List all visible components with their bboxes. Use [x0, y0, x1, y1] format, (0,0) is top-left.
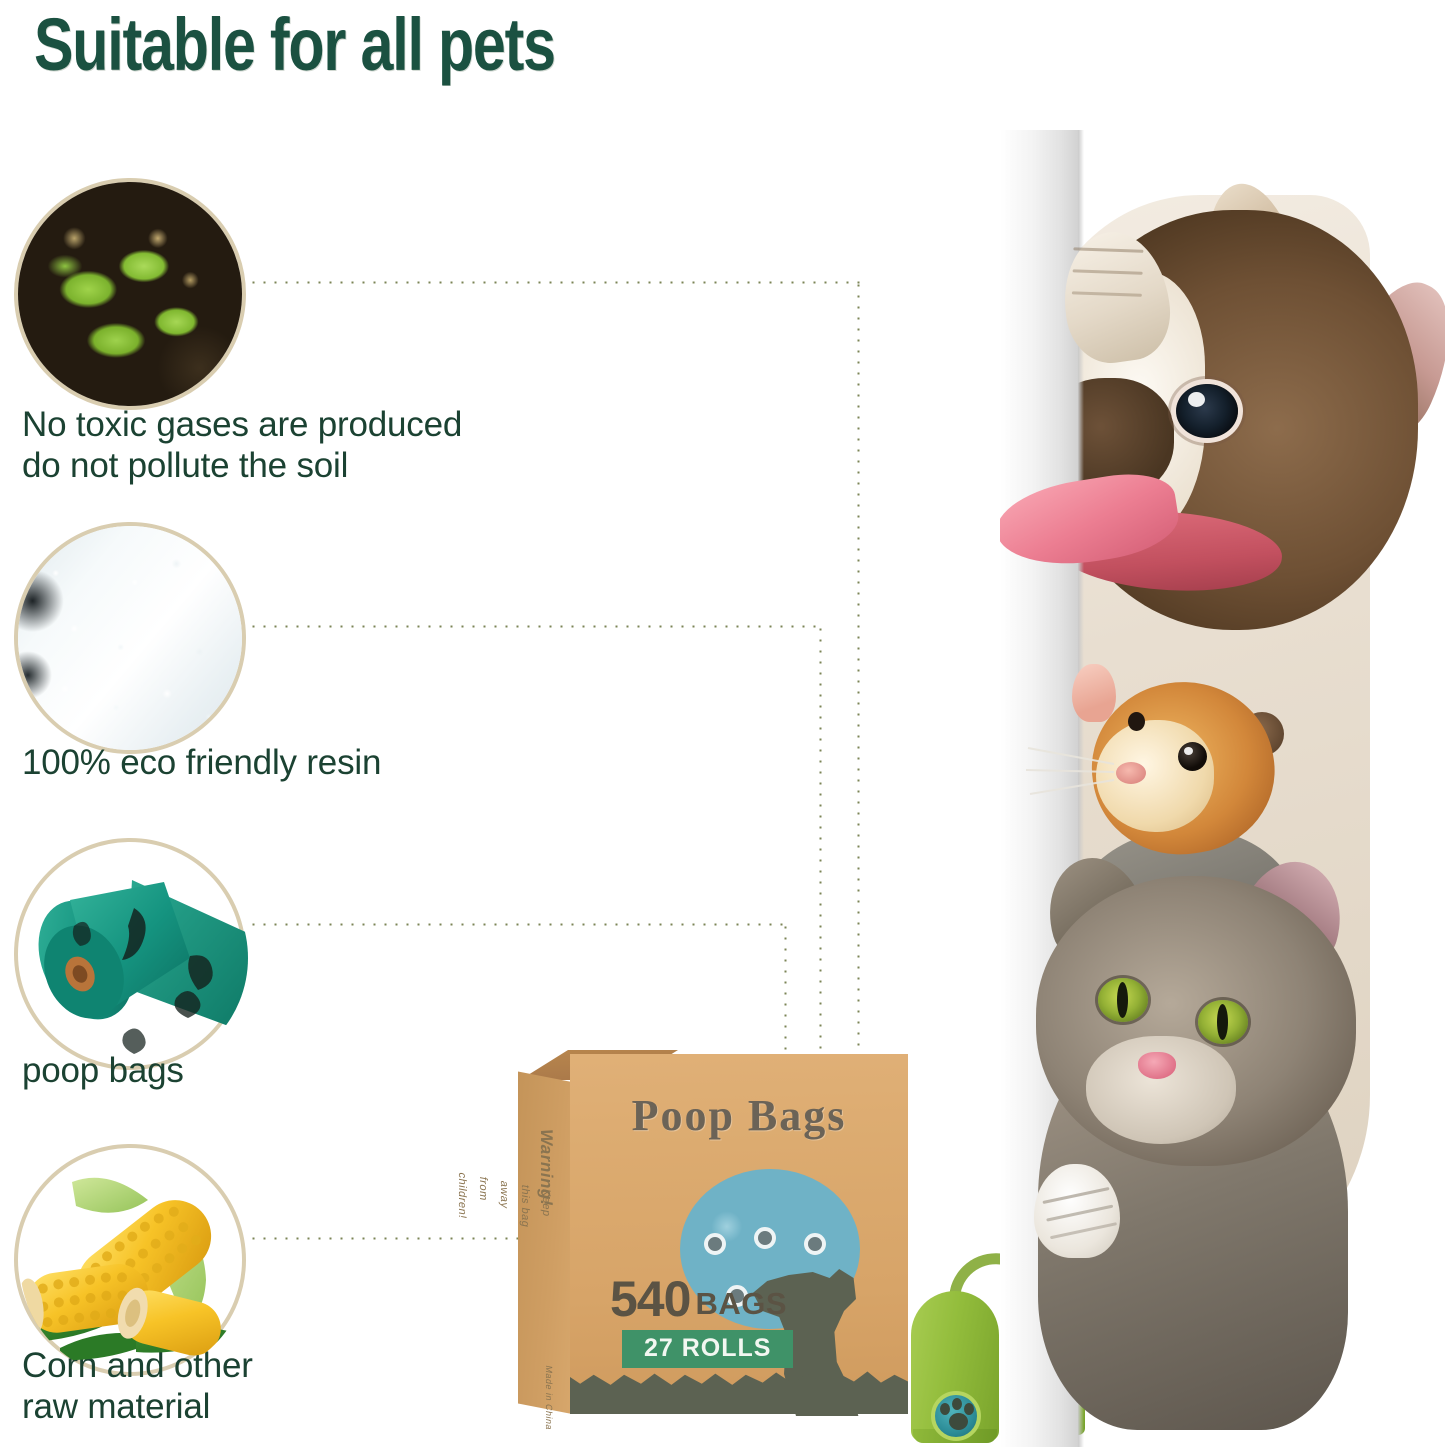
box-front-panel: Poop Bags 540BAGS 27 ROLLS [570, 1054, 908, 1414]
corn-illustration [14, 1144, 254, 1384]
connector-line-4-horizontal [248, 1236, 530, 1241]
cat-eye-right [1198, 1000, 1248, 1044]
feature-item-1 [14, 178, 254, 418]
bag-roll-core [804, 1233, 826, 1255]
box-quantity-number: 540 [610, 1271, 690, 1327]
hamster-eye [1178, 742, 1207, 771]
paw-print-icon [931, 1391, 981, 1441]
hamster-whiskers [1024, 744, 1116, 808]
connector-line-2-horizontal [248, 624, 824, 629]
cat-eye-left [1098, 978, 1148, 1022]
bag-roll-core [754, 1227, 776, 1249]
connector-line-1-horizontal [248, 280, 862, 285]
box-title: Poop Bags [570, 1090, 908, 1141]
box-quantity: 540BAGS [610, 1270, 787, 1328]
feature-image-seedlings [14, 178, 246, 410]
page-title: Suitable for all pets [34, 2, 555, 87]
cat-nose [1138, 1052, 1176, 1079]
connector-line-2-vertical [818, 624, 823, 1062]
connector-line-3-horizontal [248, 922, 788, 927]
box-made-in: Made in China [544, 1365, 554, 1431]
hamster-nose [1116, 762, 1146, 784]
hamster-paw [1072, 664, 1116, 722]
box-side-panel: Warning! Keep this bag away from childre… [518, 1072, 572, 1414]
bag-roll-core [704, 1233, 726, 1255]
feature-image-resin [14, 522, 246, 754]
dog-eye [1176, 384, 1238, 438]
hamster-eye-second [1128, 712, 1145, 731]
feature-label-1: No toxic gases are produced do not pollu… [22, 404, 462, 487]
bag-roll-illustration [14, 838, 254, 1078]
connector-line-1-vertical [856, 280, 861, 1062]
feature-label-2: 100% eco friendly resin [22, 742, 381, 783]
box-rolls-badge: 27 ROLLS [622, 1330, 793, 1368]
box-quantity-unit: BAGS [695, 1286, 787, 1321]
pets-photo-group [1000, 0, 1445, 1447]
feature-item-2 [14, 522, 254, 762]
